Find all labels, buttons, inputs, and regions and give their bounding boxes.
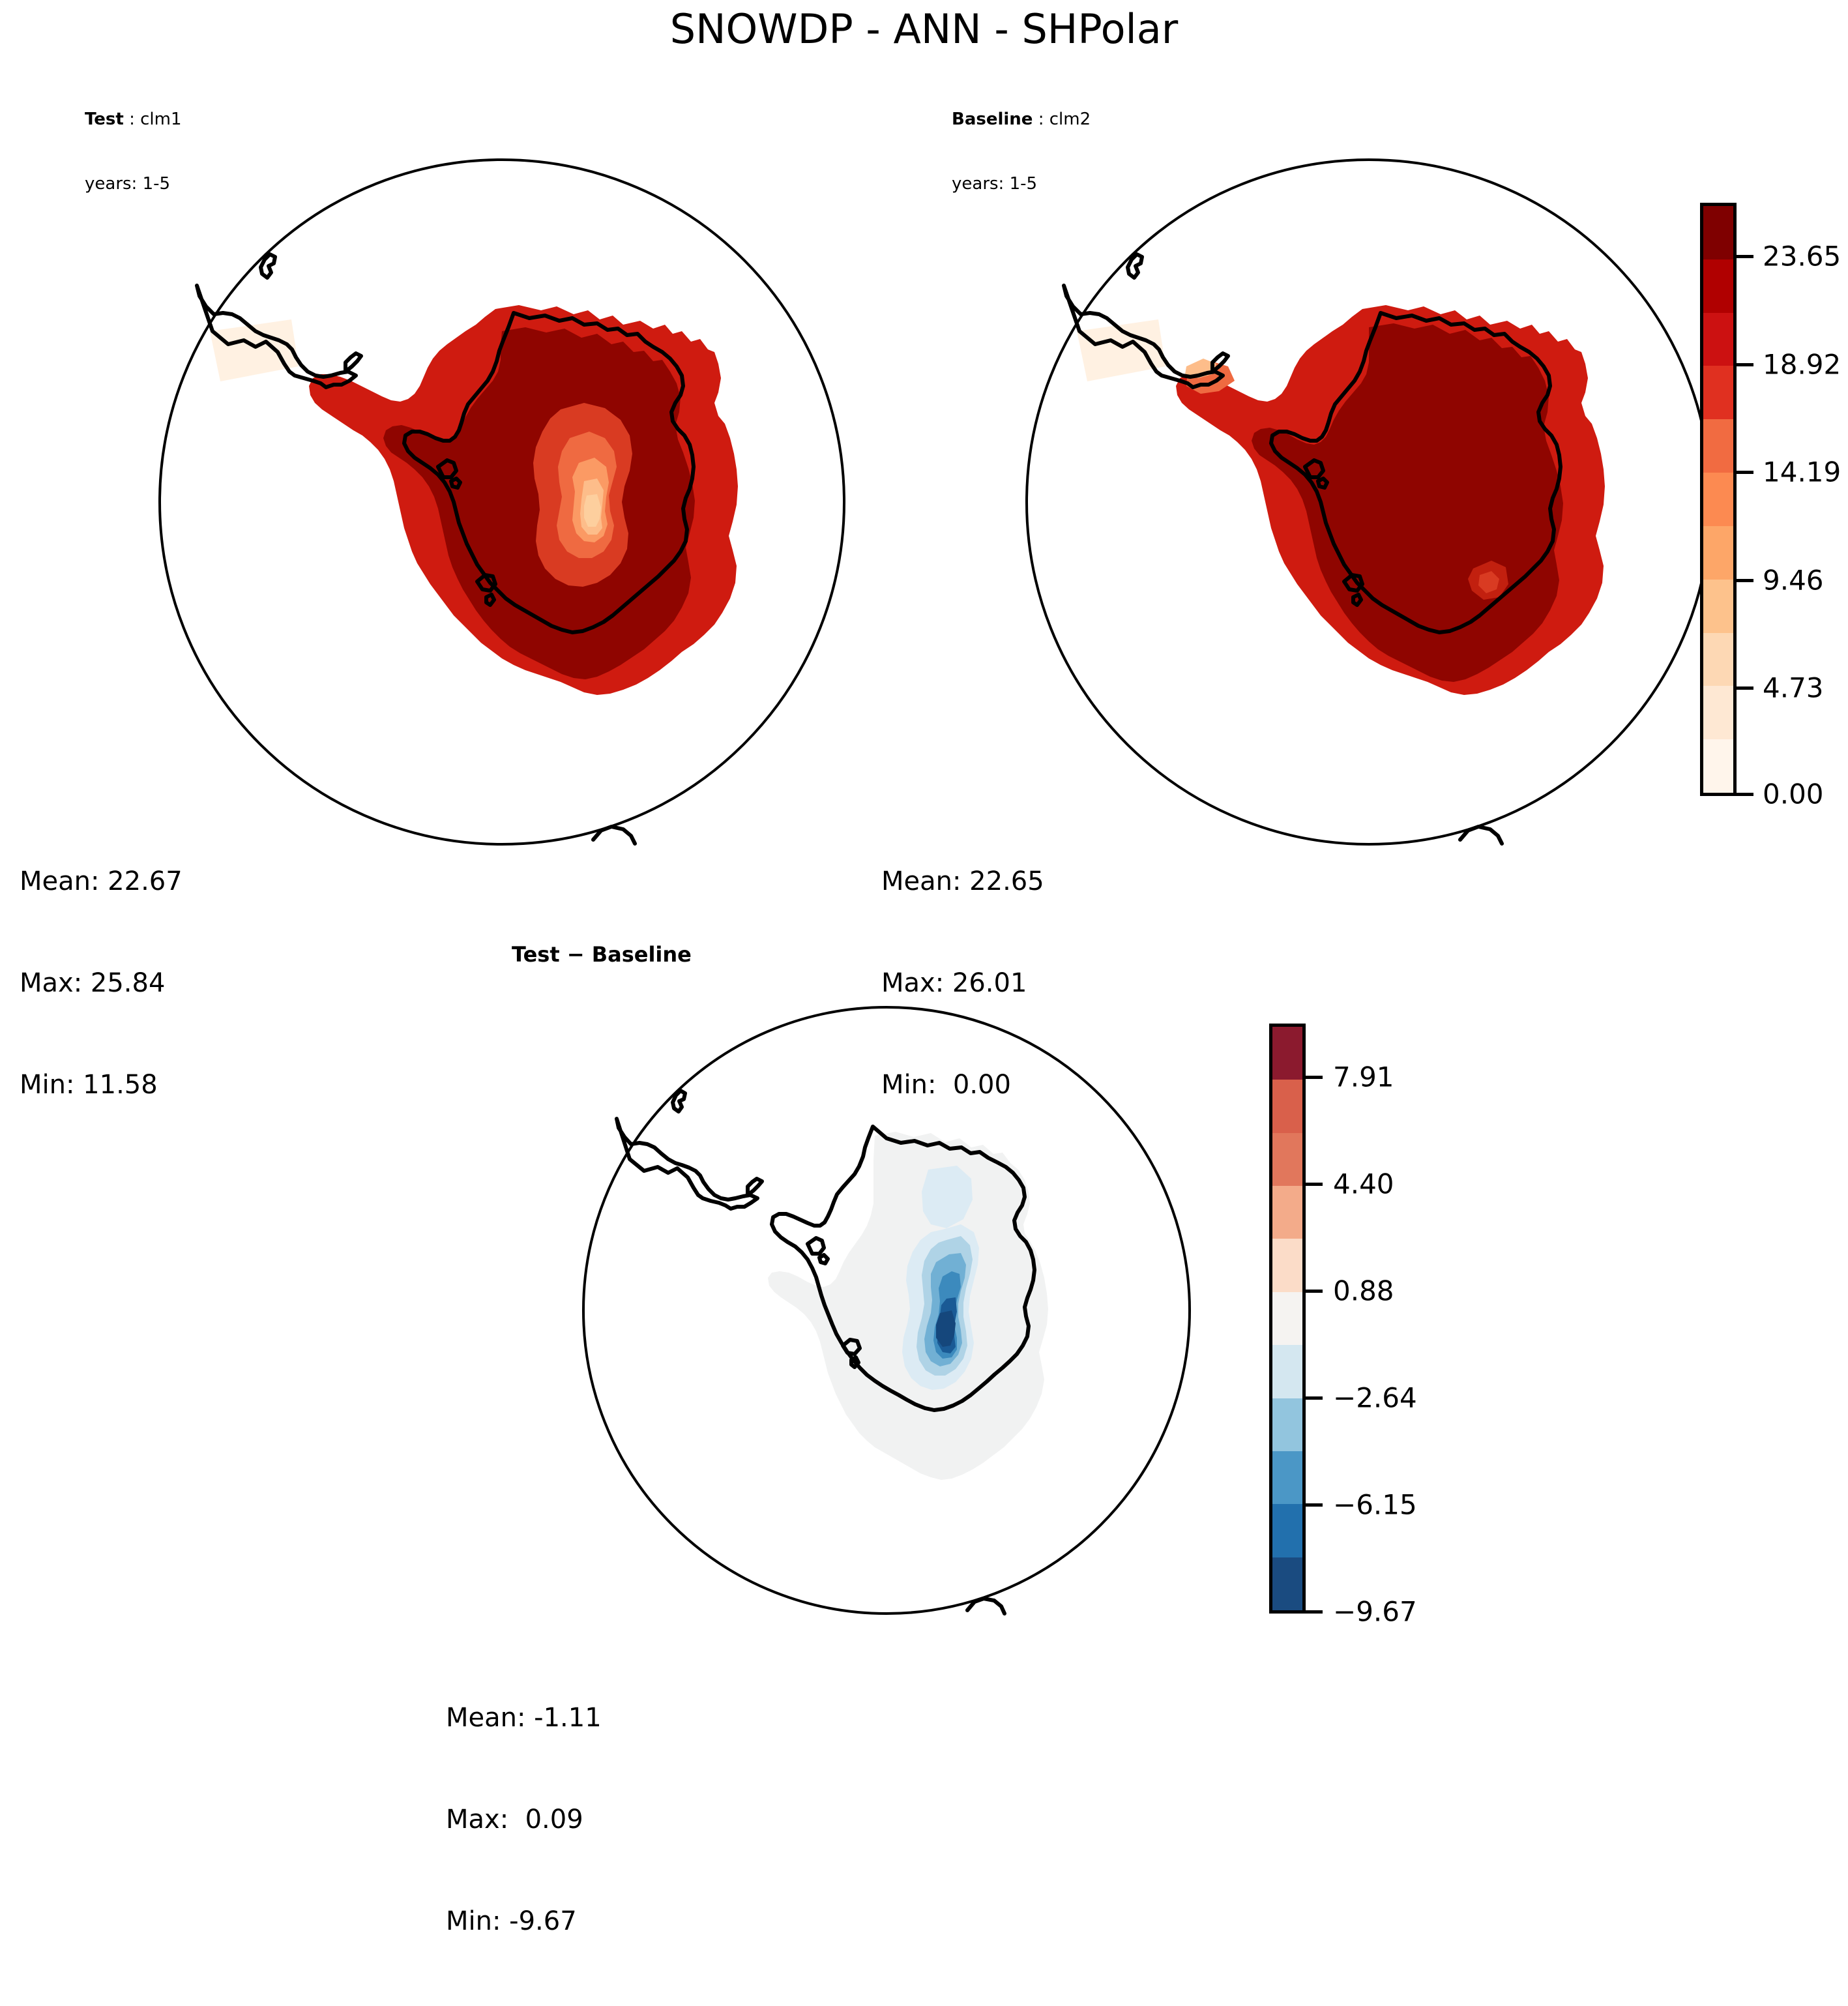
dcbar-tick-0 — [1306, 1610, 1323, 1614]
dcbar-label-0: −9.67 — [1333, 1596, 1417, 1628]
cbar-band-7 — [1703, 366, 1733, 419]
cbar-band-1 — [1703, 686, 1733, 739]
test-caption-years: years: 1-5 — [85, 173, 182, 195]
dcbar-band-1 — [1272, 1451, 1302, 1504]
dcbar-band-6 — [1272, 1186, 1302, 1239]
baseline-map-plot — [1023, 156, 1714, 848]
cbar-label-0: 0.00 — [1763, 778, 1824, 810]
dcbar-label-4: 4.40 — [1333, 1168, 1394, 1200]
dcbar-band-2 — [1272, 1398, 1302, 1451]
test-stats: Mean: 22.67 Max: 25.84 Min: 11.58 — [20, 797, 183, 1170]
dcbar-label-1: −6.15 — [1333, 1489, 1417, 1521]
cbar-band-8 — [1703, 313, 1733, 366]
sequential-colorbar-gradient — [1700, 203, 1737, 796]
test-caption-label: Test — [85, 110, 124, 129]
cbar-band-6 — [1703, 419, 1733, 473]
cbar-band-5 — [1703, 473, 1733, 526]
dcbar-label-5: 7.91 — [1333, 1061, 1394, 1093]
test-caption-value: clm1 — [140, 110, 181, 129]
sequential-colorbar: 23.65 18.92 14.19 9.46 4.73 0.00 — [1700, 203, 1843, 796]
cbar-label-2: 9.46 — [1763, 565, 1824, 597]
figure-canvas: SNOWDP - ANN - SHPolar — [0, 0, 1848, 1739]
cbar-band-10 — [1703, 206, 1733, 259]
cbar-tick-2 — [1737, 579, 1753, 582]
dcbar-label-2: −2.64 — [1333, 1382, 1417, 1414]
diff-stat-mean: Mean: -1.11 — [446, 1701, 602, 1735]
diff-stat-max: Max: 0.09 — [446, 1803, 602, 1836]
baseline-caption-line: Baseline : clm2 — [952, 109, 1091, 130]
baseline-caption-years: years: 1-5 — [952, 173, 1091, 195]
dcbar-label-3: 0.88 — [1333, 1275, 1394, 1307]
dcbar-band-8 — [1272, 1080, 1302, 1132]
dcbar-band-9 — [1272, 1027, 1302, 1080]
cbar-tick-1 — [1737, 686, 1753, 690]
diff-stat-min: Min: -9.67 — [446, 1904, 602, 1938]
baseline-caption-sep: : — [1033, 110, 1049, 129]
dcbar-band-0 — [1272, 1504, 1302, 1557]
dcbar-tick-3 — [1306, 1290, 1323, 1293]
difference-panel-title: Test − Baseline — [512, 942, 692, 967]
cbar-band-4 — [1703, 526, 1733, 580]
cbar-band-0 — [1703, 739, 1733, 793]
dcbar-band-4 — [1272, 1292, 1302, 1345]
baseline-contour-fills — [1077, 305, 1605, 695]
cbar-tick-0 — [1737, 793, 1753, 796]
test-panel-caption: Test : clm1 years: 1-5 — [85, 65, 182, 239]
test-caption-line: Test : clm1 — [85, 109, 182, 130]
cbar-band-9 — [1703, 259, 1733, 313]
difference-stats: Mean: -1.11 Max: 0.09 Min: -9.67 — [446, 1633, 602, 2006]
cbar-tick-4 — [1737, 363, 1753, 366]
panel-baseline: Baseline : clm2 years: 1-5 — [1023, 156, 1714, 848]
difference-colorbar-gradient — [1269, 1024, 1306, 1614]
difference-colorbar: 7.91 4.40 0.88 −2.64 −6.15 −9.67 — [1269, 1024, 1439, 1614]
panel-difference: Test − Baseline — [580, 1004, 1193, 1617]
dcbar-tick-4 — [1306, 1183, 1323, 1186]
baseline-caption-label: Baseline — [952, 110, 1033, 129]
cbar-label-3: 14.19 — [1763, 456, 1841, 488]
panel-test: Test : clm1 years: 1-5 — [156, 156, 847, 848]
contour-band-neutral — [768, 1132, 1048, 1480]
cbar-tick-3 — [1737, 471, 1753, 474]
dcbar-tick-2 — [1306, 1396, 1323, 1400]
cbar-tick-5 — [1737, 255, 1753, 258]
baseline-panel-caption: Baseline : clm2 years: 1-5 — [952, 65, 1091, 239]
baseline-stat-mean: Mean: 22.65 — [881, 864, 1044, 898]
dcbar-band-neg — [1272, 1557, 1302, 1610]
cbar-label-1: 4.73 — [1763, 672, 1824, 704]
dcbar-tick-5 — [1306, 1076, 1323, 1079]
page-title: SNOWDP - ANN - SHPolar — [0, 5, 1848, 53]
dcbar-band-3 — [1272, 1345, 1302, 1398]
baseline-stat-max: Max: 26.01 — [881, 966, 1044, 1000]
difference-contour-fills — [768, 1132, 1048, 1480]
dcbar-band-7 — [1272, 1133, 1302, 1186]
test-stat-max: Max: 25.84 — [20, 966, 183, 1000]
test-stat-min: Min: 11.58 — [20, 1068, 183, 1102]
baseline-caption-value: clm2 — [1049, 110, 1091, 129]
test-contour-fills — [210, 305, 738, 695]
test-stat-mean: Mean: 22.67 — [20, 864, 183, 898]
cbar-label-4: 18.92 — [1763, 349, 1841, 381]
cbar-band-2 — [1703, 633, 1733, 686]
test-map-plot — [156, 156, 847, 848]
cbar-band-3 — [1703, 580, 1733, 633]
difference-map-plot — [580, 1004, 1193, 1617]
dcbar-tick-1 — [1306, 1503, 1323, 1507]
test-caption-sep: : — [124, 110, 140, 129]
dcbar-band-5 — [1272, 1239, 1302, 1291]
cbar-label-5: 23.65 — [1763, 241, 1841, 273]
